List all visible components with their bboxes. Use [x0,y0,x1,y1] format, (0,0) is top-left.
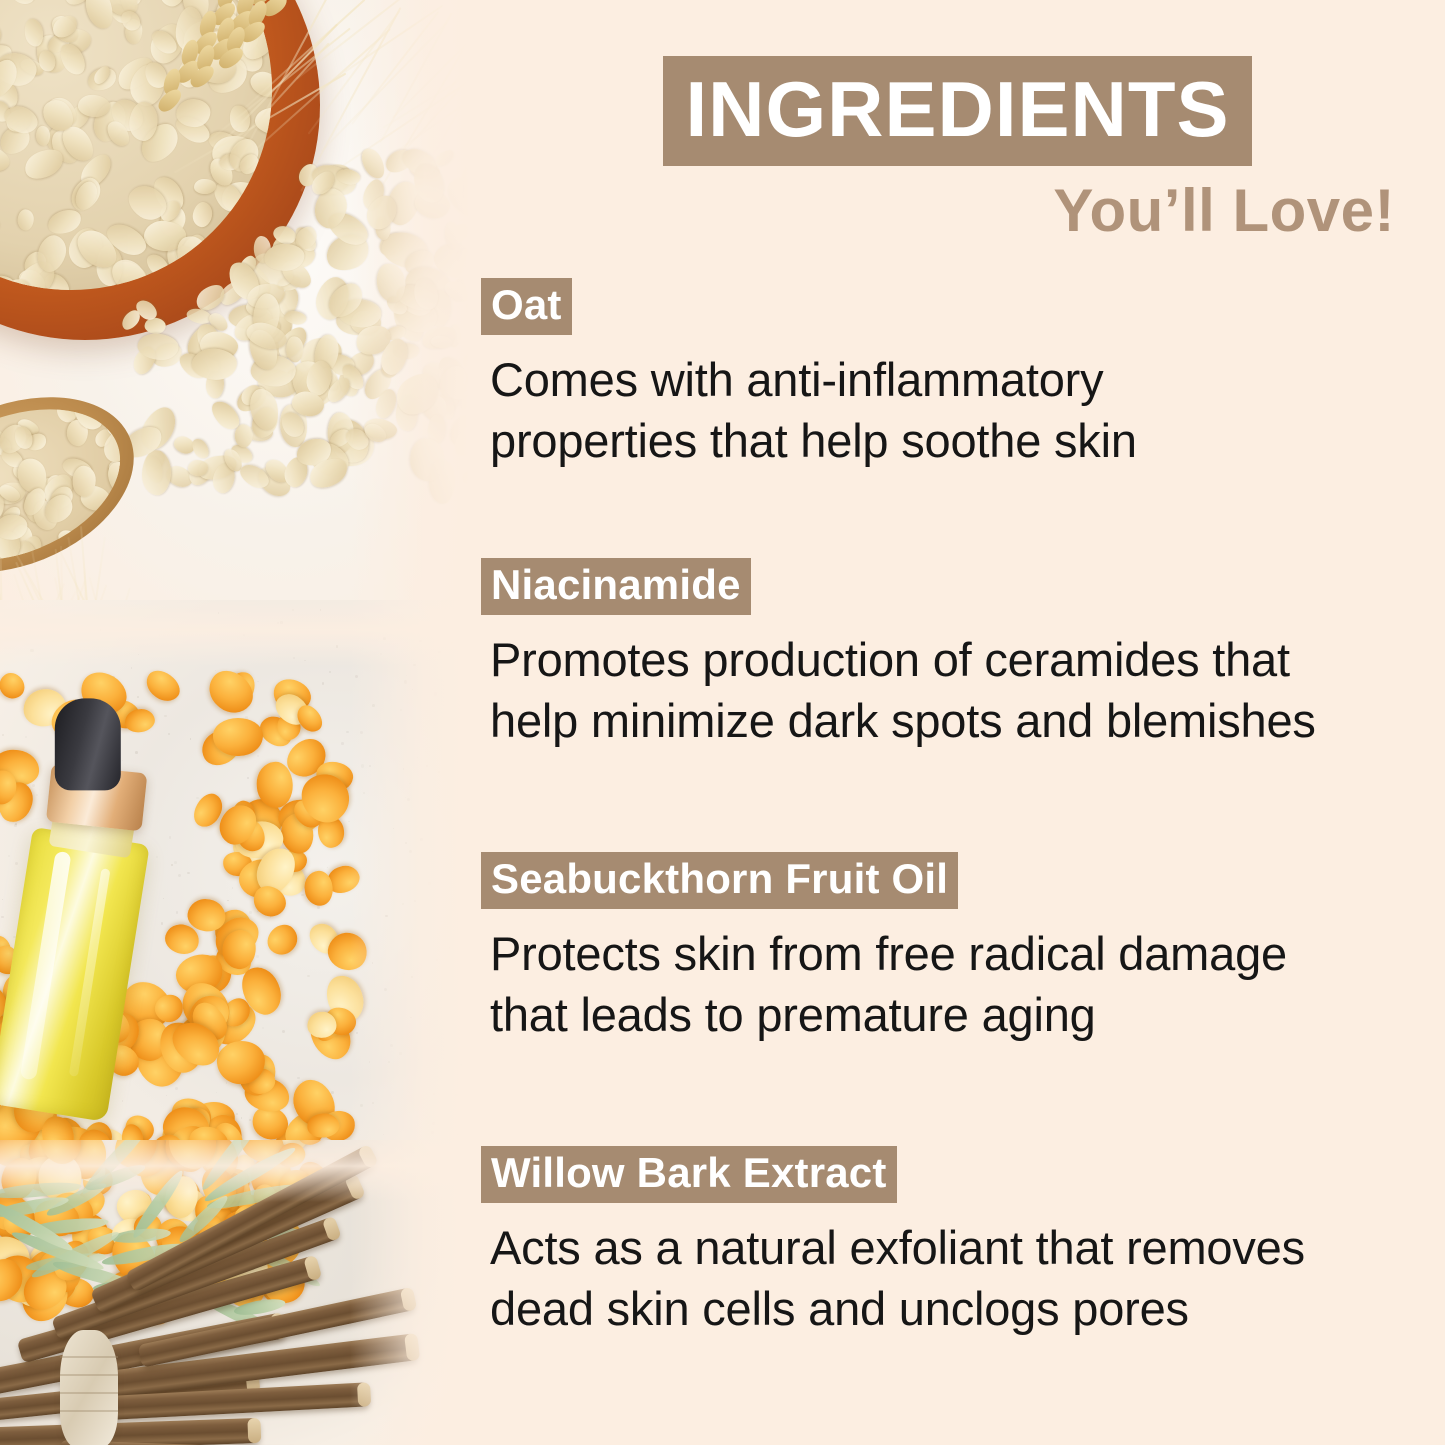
twine-knot [60,1330,118,1445]
photo-column [0,0,470,1445]
page-title: INGREDIENTS [663,56,1251,166]
ingredient-description: Protects skin from free radical damage t… [490,923,1431,1045]
ingredient-name: Oat [481,278,572,335]
photo-right-fade [350,0,470,620]
photo-right-fade [350,600,470,1200]
ingredient-item-niacinamide: Niacinamide Promotes production of ceram… [481,558,1431,751]
ingredients-infographic: INGREDIENTS You’ll Love! Oat Comes with … [0,0,1445,1445]
header: INGREDIENTS You’ll Love! [470,0,1445,245]
content-column: INGREDIENTS You’ll Love! Oat Comes with … [470,0,1445,1445]
ingredient-description: Comes with anti-inflammatory properties … [490,349,1431,471]
photo-seam-top [0,600,470,666]
ingredient-description: Promotes production of ceramides that he… [490,629,1431,751]
ingredient-name: Niacinamide [481,558,751,615]
ingredient-name: Seabuckthorn Fruit Oil [481,852,958,909]
dropper-bulb [55,698,121,790]
title-wrapper: INGREDIENTS [470,0,1445,166]
ingredient-item-oat: Oat Comes with anti-inflammatory propert… [481,278,1431,471]
ingredient-item-seabuckthorn-fruit-oil: Seabuckthorn Fruit Oil Protects skin fro… [481,852,1431,1045]
oats-in-bowl-photo [0,0,470,620]
ingredient-item-willow-bark-extract: Willow Bark Extract Acts as a natural ex… [481,1146,1431,1339]
ingredient-description: Acts as a natural exfoliant that removes… [490,1217,1431,1339]
photo-seam-top [0,1140,470,1202]
page-subtitle: You’ll Love! [470,176,1445,245]
ingredient-name: Willow Bark Extract [481,1146,897,1203]
dropper-bottle-berries-photo [0,600,470,1200]
